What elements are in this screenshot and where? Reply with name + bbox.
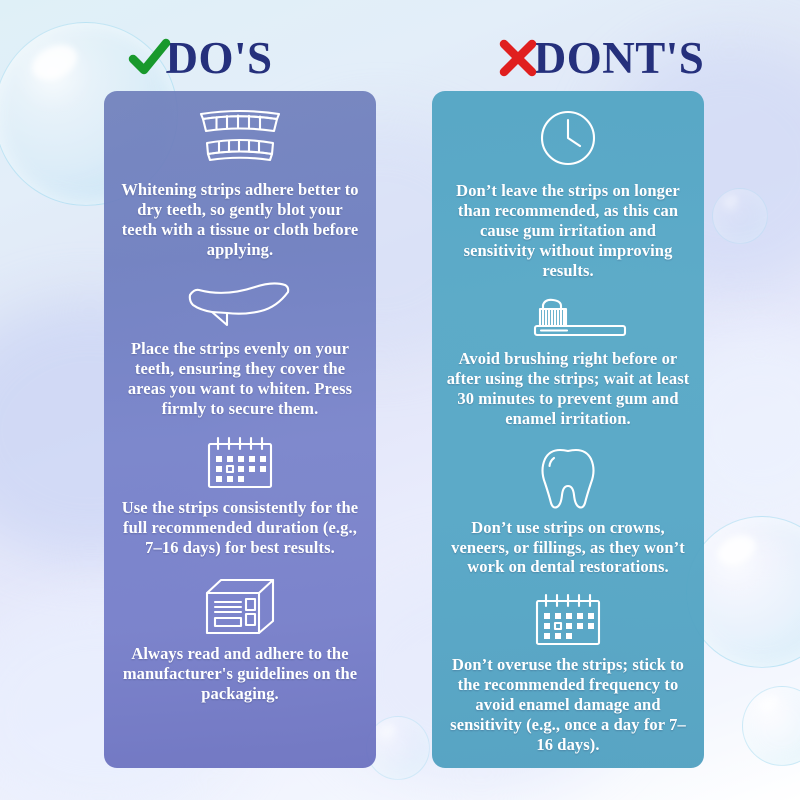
donts-item-3-text: Don’t use strips on crowns, veneers, or … <box>446 518 690 578</box>
dos-item-4-text: Always read and adhere to the manufactur… <box>118 644 362 704</box>
whitening-strip-icon <box>185 277 295 332</box>
decorative-bubble <box>712 188 768 244</box>
clock-icon <box>537 107 599 169</box>
toothbrush-icon <box>507 298 629 342</box>
donts-panel: Don’t leave the strips on longer than re… <box>432 91 704 768</box>
calendar-icon <box>532 592 604 648</box>
decorative-bubble <box>742 686 800 766</box>
package-box-icon <box>201 575 279 637</box>
dos-item-3: Use the strips consistently for the full… <box>118 435 362 558</box>
donts-item-1-text: Don’t leave the strips on longer than re… <box>446 181 690 281</box>
cross-icon <box>496 36 540 80</box>
donts-item-4-text: Don’t overuse the strips; stick to the r… <box>446 655 690 755</box>
headings-row: DO'S DONT'S <box>0 28 800 88</box>
calendar-icon <box>204 435 276 491</box>
heading-donts: DONT'S <box>400 28 800 88</box>
dos-item-4: Always read and adhere to the manufactur… <box>118 575 362 704</box>
donts-item-2-text: Avoid brushing right before or after usi… <box>446 349 690 429</box>
infographic-poster: DO'S DONT'S Whitening strips adhere bett… <box>0 0 800 800</box>
tooth-icon <box>537 445 599 511</box>
heading-dos-label: DO'S <box>165 36 272 81</box>
dentures-icon <box>192 107 288 171</box>
dos-item-2: Place the strips evenly on your teeth, e… <box>118 277 362 419</box>
heading-dos: DO'S <box>0 28 400 88</box>
dos-item-1: Whitening strips adhere better to dry te… <box>118 107 362 260</box>
donts-item-4: Don’t overuse the strips; stick to the r… <box>446 592 690 755</box>
heading-donts-label: DONT'S <box>534 36 705 81</box>
dos-item-1-text: Whitening strips adhere better to dry te… <box>118 180 362 260</box>
check-icon <box>127 36 171 80</box>
donts-item-1: Don’t leave the strips on longer than re… <box>446 107 690 281</box>
donts-item-3: Don’t use strips on crowns, veneers, or … <box>446 445 690 578</box>
dos-item-3-text: Use the strips consistently for the full… <box>118 498 362 558</box>
dos-item-2-text: Place the strips evenly on your teeth, e… <box>118 339 362 419</box>
dos-panel: Whitening strips adhere better to dry te… <box>104 91 376 768</box>
donts-item-2: Avoid brushing right before or after usi… <box>446 298 690 429</box>
